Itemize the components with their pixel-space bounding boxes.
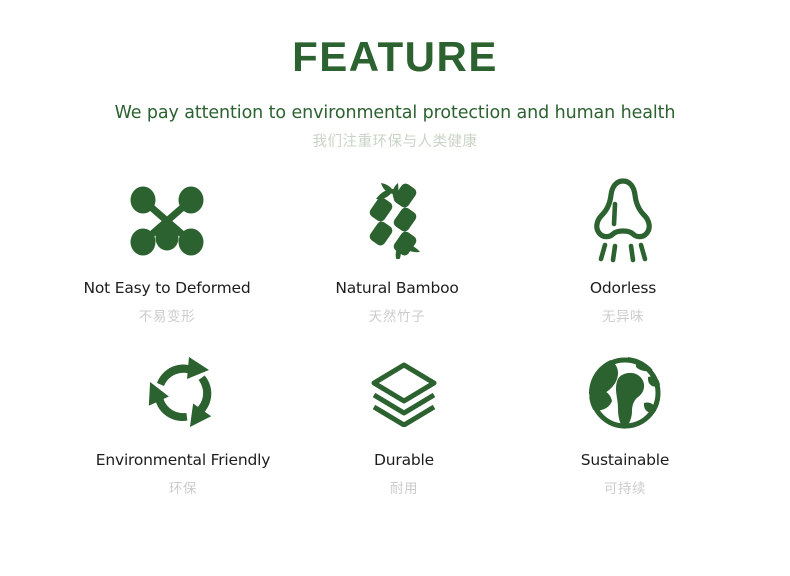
layers-stack-icon — [368, 347, 440, 439]
feature-item-sustainable: Sustainable 可持续 — [520, 347, 730, 497]
feature-label-cn: 可持续 — [604, 481, 646, 497]
globe-leaf-icon — [584, 347, 666, 439]
feature-label-cn: 无异味 — [602, 309, 644, 325]
nose-icon — [592, 175, 654, 267]
feature-item-odorless: Odorless 无异味 — [518, 175, 728, 325]
feature-grid: Not Easy to Deformed 不易变形 — [0, 175, 790, 497]
feature-row-2: Environmental Friendly 环保 Durable 耐用 — [0, 347, 790, 497]
feature-section: FEATURE We pay attention to environmenta… — [0, 0, 790, 576]
feature-label-en: Natural Bamboo — [335, 279, 458, 298]
bamboo-icon — [362, 175, 432, 267]
feature-item-not-easy-to-deformed: Not Easy to Deformed 不易变形 — [62, 175, 272, 325]
feature-label-en: Sustainable — [581, 451, 669, 470]
molecule-lattice-icon — [128, 175, 206, 267]
feature-item-durable: Durable 耐用 — [299, 347, 509, 497]
feature-label-cn: 环保 — [169, 481, 197, 497]
subtitle-chinese: 我们注重环保与人类健康 — [0, 134, 790, 151]
feature-item-environmental-friendly: Environmental Friendly 环保 — [78, 347, 288, 497]
section-header: FEATURE We pay attention to environmenta… — [0, 0, 790, 151]
feature-item-natural-bamboo: Natural Bamboo 天然竹子 — [292, 175, 502, 325]
recycle-icon — [143, 347, 223, 439]
page-title: FEATURE — [0, 36, 790, 78]
feature-label-en: Durable — [374, 451, 434, 470]
feature-label-en: Environmental Friendly — [96, 451, 270, 470]
feature-label-cn: 耐用 — [390, 481, 418, 497]
feature-label-cn: 天然竹子 — [369, 309, 425, 325]
feature-label-en: Not Easy to Deformed — [83, 279, 250, 298]
feature-label-en: Odorless — [590, 279, 656, 298]
subtitle-english: We pay attention to environmental protec… — [0, 103, 790, 124]
feature-label-cn: 不易变形 — [139, 309, 195, 325]
feature-row-1: Not Easy to Deformed 不易变形 — [0, 175, 790, 325]
